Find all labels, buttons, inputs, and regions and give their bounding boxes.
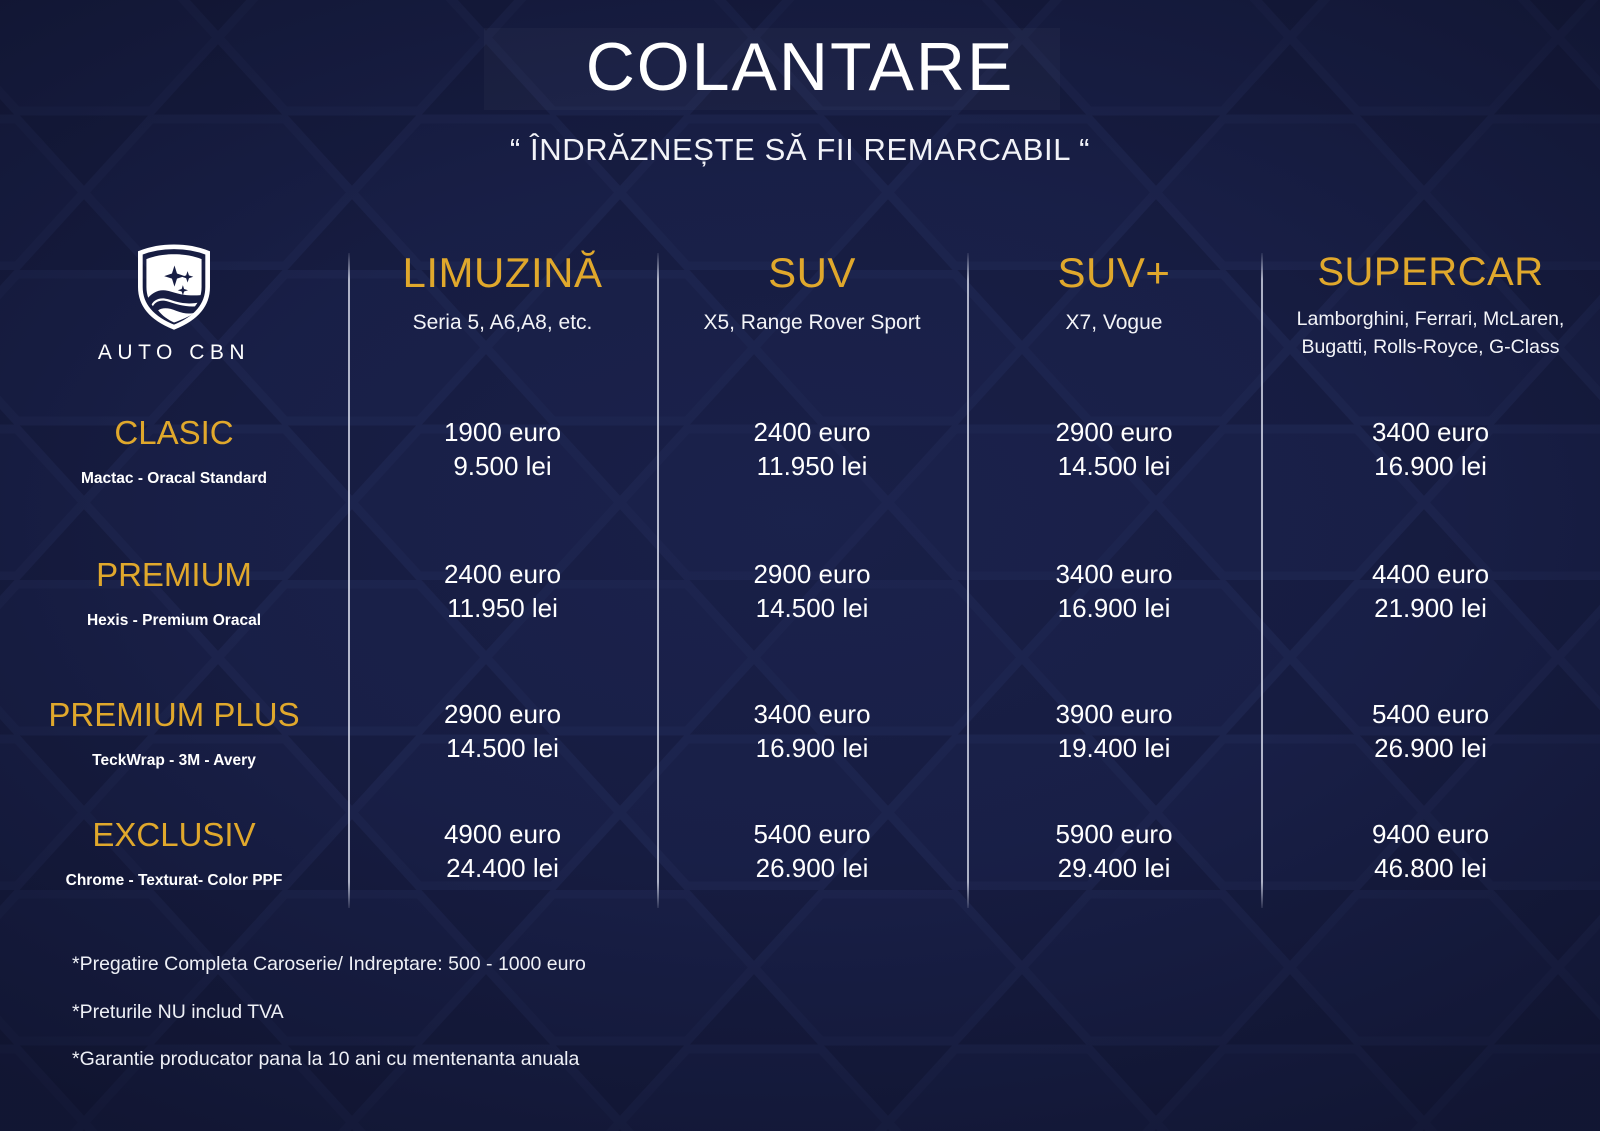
price-cell-0-1: 2400 euro 11.950 lei — [657, 416, 967, 556]
tier-name-1: PREMIUM — [0, 558, 348, 591]
price-cell-3-2: 5900 euro 29.400 lei — [967, 818, 1261, 958]
price-cell-2-3: 5400 euro 26.900 lei — [1261, 698, 1600, 838]
price-euro-2-2: 3900 euro — [967, 698, 1261, 732]
price-cell-0-3: 3400 euro 16.900 lei — [1261, 416, 1600, 556]
pricing-table: AUTO CBN LIMUZINĂ Seria 5, A6,A8, etc. S… — [0, 238, 1600, 908]
tier-materials-1: Hexis - Premium Oracal — [0, 613, 348, 629]
page-title: COLANTARE — [0, 33, 1600, 101]
price-euro-1-2: 3400 euro — [967, 558, 1261, 592]
row-label-1: PREMIUM Hexis - Premium Oracal — [0, 558, 348, 698]
price-lei-0-2: 14.500 lei — [967, 450, 1261, 484]
column-title-0: LIMUZINĂ — [348, 252, 657, 294]
column-title-3: SUPERCAR — [1261, 252, 1600, 292]
price-cell-1-1: 2900 euro 14.500 lei — [657, 558, 967, 698]
price-lei-1-2: 16.900 lei — [967, 592, 1261, 626]
column-examples-2: X7, Vogue — [967, 308, 1261, 338]
price-cell-3-0: 4900 euro 24.400 lei — [348, 818, 657, 958]
price-lei-1-3: 21.900 lei — [1261, 592, 1600, 626]
price-lei-0-0: 9.500 lei — [348, 450, 657, 484]
price-lei-1-1: 14.500 lei — [657, 592, 967, 626]
price-lei-3-3: 46.800 lei — [1261, 852, 1600, 886]
price-cell-2-1: 3400 euro 16.900 lei — [657, 698, 967, 838]
brand-name: AUTO CBN — [98, 341, 250, 365]
price-euro-1-3: 4400 euro — [1261, 558, 1600, 592]
price-euro-3-3: 9400 euro — [1261, 818, 1600, 852]
price-lei-3-2: 29.400 lei — [967, 852, 1261, 886]
price-euro-1-0: 2400 euro — [348, 558, 657, 592]
pricing-poster: COLANTARE “ ÎNDRĂZNEȘTE SĂ FII REMARCABI… — [0, 0, 1600, 1131]
column-examples-1: X5, Range Rover Sport — [657, 308, 967, 338]
price-euro-2-3: 5400 euro — [1261, 698, 1600, 732]
price-cell-1-2: 3400 euro 16.900 lei — [967, 558, 1261, 698]
price-lei-2-3: 26.900 lei — [1261, 732, 1600, 766]
footnotes: *Pregatire Completa Caroserie/ Indreptar… — [72, 955, 586, 1098]
price-cell-1-3: 4400 euro 21.900 lei — [1261, 558, 1600, 698]
price-euro-3-1: 5400 euro — [657, 818, 967, 852]
row-label-3: EXCLUSIV Chrome - Texturat- Color PPF — [0, 818, 348, 958]
shield-sparkle-icon — [127, 244, 221, 330]
column-examples-0: Seria 5, A6,A8, etc. — [348, 308, 657, 338]
price-euro-3-2: 5900 euro — [967, 818, 1261, 852]
page-subtitle: “ ÎNDRĂZNEȘTE SĂ FII REMARCABIL “ — [0, 134, 1600, 165]
price-lei-0-1: 11.950 lei — [657, 450, 967, 484]
price-euro-0-0: 1900 euro — [348, 416, 657, 450]
column-title-2: SUV+ — [967, 252, 1261, 294]
price-cell-2-0: 2900 euro 14.500 lei — [348, 698, 657, 838]
column-header-3: SUPERCAR Lamborghini, Ferrari, McLaren, … — [1261, 238, 1600, 393]
footnote-2: *Garantie producator pana la 10 ani cu m… — [72, 1050, 586, 1070]
tier-name-3: EXCLUSIV — [0, 818, 348, 851]
price-euro-2-0: 2900 euro — [348, 698, 657, 732]
column-header-1: SUV X5, Range Rover Sport — [657, 238, 967, 393]
price-lei-2-2: 19.400 lei — [967, 732, 1261, 766]
tier-materials-0: Mactac - Oracal Standard — [0, 471, 348, 487]
price-cell-0-2: 2900 euro 14.500 lei — [967, 416, 1261, 556]
column-header-0: LIMUZINĂ Seria 5, A6,A8, etc. — [348, 238, 657, 393]
price-euro-0-1: 2400 euro — [657, 416, 967, 450]
price-lei-2-1: 16.900 lei — [657, 732, 967, 766]
tier-name-0: CLASIC — [0, 416, 348, 449]
price-lei-3-0: 24.400 lei — [348, 852, 657, 886]
price-euro-0-2: 2900 euro — [967, 416, 1261, 450]
tier-materials-2: TeckWrap - 3M - Avery — [0, 753, 348, 769]
price-cell-2-2: 3900 euro 19.400 lei — [967, 698, 1261, 838]
footnote-0: *Pregatire Completa Caroserie/ Indreptar… — [72, 955, 586, 975]
price-cell-3-3: 9400 euro 46.800 lei — [1261, 818, 1600, 958]
brand-logo: AUTO CBN — [0, 238, 348, 393]
row-label-0: CLASIC Mactac - Oracal Standard — [0, 416, 348, 556]
column-examples-3: Lamborghini, Ferrari, McLaren, Bugatti, … — [1261, 306, 1600, 361]
price-euro-2-1: 3400 euro — [657, 698, 967, 732]
tier-materials-3: Chrome - Texturat- Color PPF — [0, 873, 348, 889]
price-euro-3-0: 4900 euro — [348, 818, 657, 852]
price-cell-3-1: 5400 euro 26.900 lei — [657, 818, 967, 958]
price-lei-2-0: 14.500 lei — [348, 732, 657, 766]
price-euro-1-1: 2900 euro — [657, 558, 967, 592]
price-lei-0-3: 16.900 lei — [1261, 450, 1600, 484]
price-cell-1-0: 2400 euro 11.950 lei — [348, 558, 657, 698]
tier-name-2: PREMIUM PLUS — [0, 698, 348, 731]
price-cell-0-0: 1900 euro 9.500 lei — [348, 416, 657, 556]
price-lei-1-0: 11.950 lei — [348, 592, 657, 626]
column-title-1: SUV — [657, 252, 967, 294]
price-lei-3-1: 26.900 lei — [657, 852, 967, 886]
price-euro-0-3: 3400 euro — [1261, 416, 1600, 450]
footnote-1: *Preturile NU includ TVA — [72, 1003, 586, 1023]
column-header-2: SUV+ X7, Vogue — [967, 238, 1261, 393]
